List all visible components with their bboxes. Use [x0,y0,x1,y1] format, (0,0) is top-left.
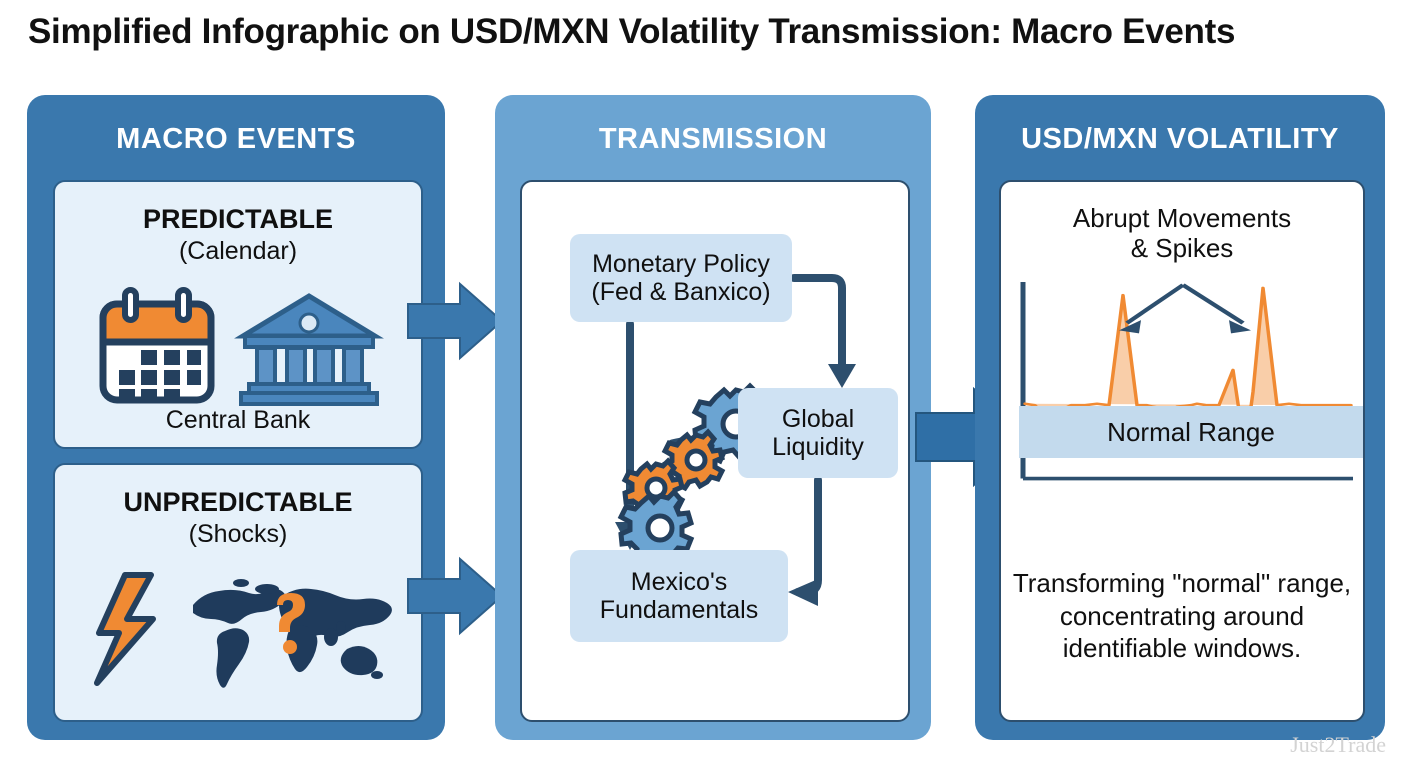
lightning-bolt-icon [81,571,167,687]
volatility-chart [1001,282,1363,502]
card-predictable-title: PREDICTABLE [55,204,421,235]
panel-usdmxn-volatility: USD/MXN VOLATILITY Abrupt Movements & Sp… [975,95,1385,740]
card-unpredictable-title: UNPREDICTABLE [55,487,421,518]
card-unpredictable-subtitle: (Shocks) [55,520,421,549]
world-map-question-icon [181,575,396,687]
box-mexicos-fundamentals-line1: Mexico's [631,568,727,596]
volatility-caption-line1: Transforming "normal" range, [1011,567,1353,600]
normal-range-label: Normal Range [1107,417,1275,448]
volatility-caption: Transforming "normal" range, concentrati… [1011,567,1353,665]
abrupt-movements-line2: & Spikes [1001,234,1363,264]
panel-usdmxn-volatility-header: USD/MXN VOLATILITY [975,95,1385,156]
calendar-icon [97,290,217,408]
box-global-liquidity-line2: Liquidity [772,433,864,461]
volatility-chart-card: Abrupt Movements & Spikes Normal Range [999,180,1365,722]
box-global-liquidity[interactable]: Global Liquidity [738,388,898,478]
arrow-predictable-to-transmission [408,278,508,364]
abrupt-movements-line1: Abrupt Movements [1001,204,1363,234]
box-mexicos-fundamentals-line2: Fundamentals [600,596,758,624]
card-predictable: PREDICTABLE (Calendar) [53,180,423,449]
panel-transmission: TRANSMISSION [495,95,931,740]
card-unpredictable: UNPREDICTABLE (Shocks) [53,463,423,722]
box-mexicos-fundamentals[interactable]: Mexico's Fundamentals [570,550,788,642]
abrupt-movements-label: Abrupt Movements & Spikes [1001,204,1363,264]
box-monetary-policy-line1: Monetary Policy [592,250,770,278]
chart-annotation-arrows [1119,285,1251,333]
bank-icon [239,290,379,408]
box-monetary-policy-line2: (Fed & Banxico) [591,278,770,306]
volatility-caption-line2: concentrating around [1011,600,1353,633]
transmission-diagram: Monetary Policy (Fed & Banxico) Global L… [520,180,910,722]
panel-macro-events: MACRO EVENTS PREDICTABLE (Calendar) [27,95,445,740]
normal-range-band: Normal Range [1019,406,1363,458]
page-title: Simplified Infographic on USD/MXN Volati… [28,12,1368,52]
volatility-caption-line3: identifiable windows. [1011,632,1353,665]
watermark: Just2Trade [1290,732,1386,758]
central-bank-label: Central Bank [55,406,421,435]
panel-macro-events-header: MACRO EVENTS [27,95,445,156]
arrow-unpredictable-to-transmission [408,553,508,639]
panel-transmission-header: TRANSMISSION [495,95,931,156]
card-predictable-subtitle: (Calendar) [55,237,421,266]
box-monetary-policy[interactable]: Monetary Policy (Fed & Banxico) [570,234,792,322]
box-global-liquidity-line1: Global [782,405,854,433]
